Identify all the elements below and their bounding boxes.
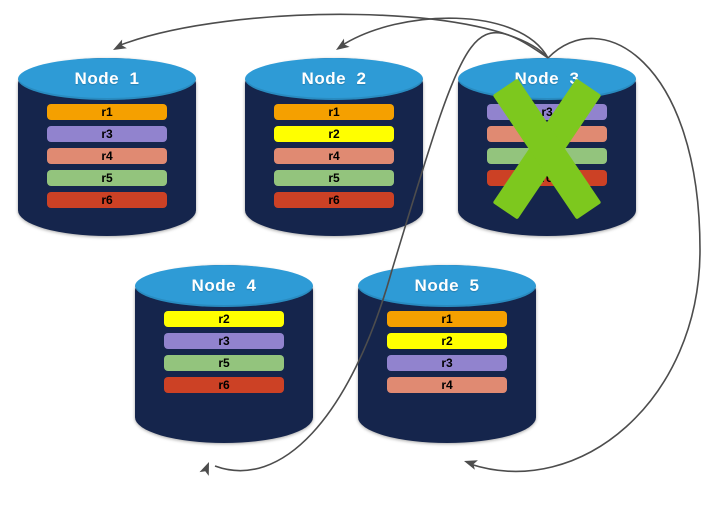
arrow-layer bbox=[0, 0, 708, 508]
replication-arrow-head bbox=[462, 456, 477, 470]
replication-arrow-path bbox=[215, 33, 548, 471]
replication-arrow-head bbox=[199, 460, 213, 476]
diagram-canvas: Node 1r1r3r4r5r6Node 2r1r2r4r5r6Node 3r3… bbox=[0, 0, 708, 508]
replication-arrow-path bbox=[470, 38, 700, 471]
replication-arrow-head bbox=[333, 39, 349, 55]
replication-arrow-head bbox=[111, 39, 127, 54]
